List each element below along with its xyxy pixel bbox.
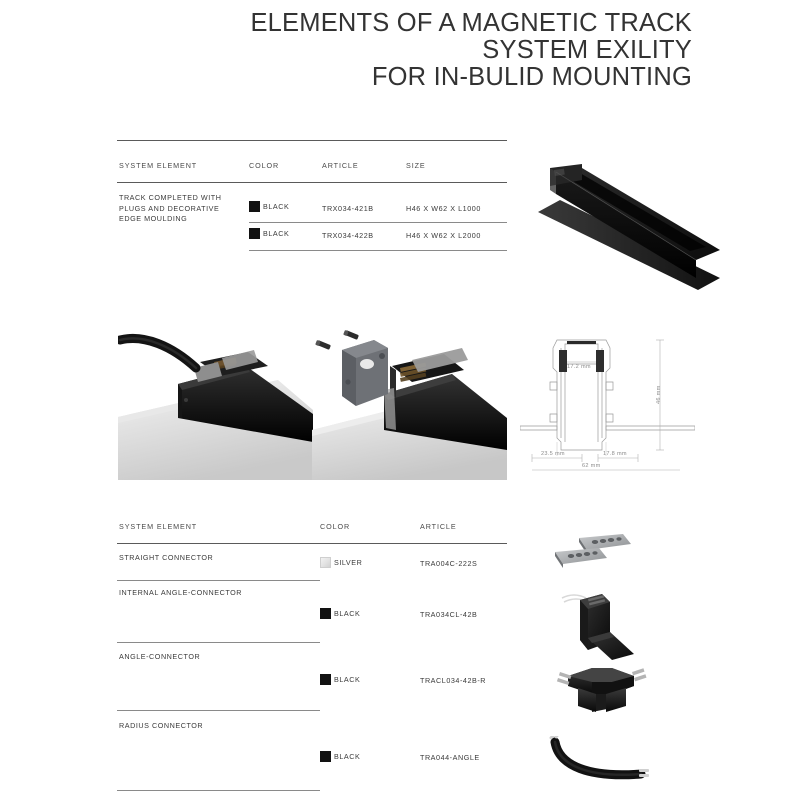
column-header-size: SIZE xyxy=(406,161,426,170)
color-swatch-black xyxy=(320,674,331,685)
column-header-system-element: SYSTEM ELEMENT xyxy=(119,161,197,170)
dimension-left-width: 23.5 mm xyxy=(541,451,565,457)
dimension-right-width: 17.8 mm xyxy=(603,451,627,457)
column-header-article: ARTICLE xyxy=(322,161,359,170)
table-row-color-cell: BLACK xyxy=(320,751,360,762)
track-profile-photo xyxy=(520,150,720,300)
color-swatch-black xyxy=(249,201,260,212)
header-bottom-rule xyxy=(117,182,507,183)
connector-element-label: RADIUS CONNECTOR xyxy=(119,721,203,732)
table-row-rule xyxy=(117,710,320,711)
table-row-rule xyxy=(117,642,320,643)
track-with-cable-photo xyxy=(118,322,313,480)
connector-element-label: STRAIGHT CONNECTOR xyxy=(119,553,213,564)
size-value: H46 X W62 X L2000 xyxy=(406,231,481,242)
article-code: TRX034-421B xyxy=(322,204,374,215)
track-element-label-line-1: TRACK COMPLETED WITH xyxy=(119,193,221,202)
article-code: TRX034-422B xyxy=(322,231,374,242)
column-header-article: ARTICLE xyxy=(420,522,457,531)
cross-section-drawing: 17.2 mm 46 mm 23.5 mm 17.8 mm 62 mm xyxy=(520,330,695,480)
dimension-height: 46 mm xyxy=(656,385,662,404)
radius-connector-photo xyxy=(545,736,655,784)
page-title-line-3: FOR IN-BULID MOUNTING xyxy=(0,64,692,91)
color-label: BLACK xyxy=(334,675,360,684)
column-header-system-element: SYSTEM ELEMENT xyxy=(119,522,197,531)
header-bottom-rule xyxy=(117,543,507,544)
table-top-rule xyxy=(117,140,507,141)
color-swatch-silver xyxy=(320,557,331,568)
internal-angle-connector-photo xyxy=(548,588,653,660)
column-header-color: COLOR xyxy=(249,161,279,170)
table-row-rule xyxy=(117,580,320,581)
table-bottom-rule xyxy=(117,790,320,791)
table-row-rule xyxy=(249,222,507,223)
color-swatch-black xyxy=(320,751,331,762)
connector-element-label: ANGLE-CONNECTOR xyxy=(119,652,200,663)
page-title-line-1: ELEMENTS OF A MAGNETIC TRACK xyxy=(0,10,692,37)
color-label: SILVER xyxy=(334,558,362,567)
track-endcap-exploded-photo xyxy=(312,322,507,480)
page-title-line-2: SYSTEM EXILITY xyxy=(0,37,692,64)
article-code: TRA034CL-42B xyxy=(420,610,477,621)
table-row-color-cell: BLACK xyxy=(249,228,289,239)
article-code: TRA004C-222S xyxy=(420,559,477,570)
column-header-color: COLOR xyxy=(320,522,350,531)
size-value: H46 X W62 X L1000 xyxy=(406,204,481,215)
table-row-color-cell: BLACK xyxy=(320,608,360,619)
color-label: BLACK xyxy=(263,229,289,238)
page-title: ELEMENTS OF A MAGNETIC TRACK SYSTEM EXIL… xyxy=(0,10,692,91)
color-swatch-black xyxy=(249,228,260,239)
dimension-inner-width: 17.2 mm xyxy=(567,364,591,370)
straight-connector-photo xyxy=(545,532,655,587)
catalog-page: ELEMENTS OF A MAGNETIC TRACK SYSTEM EXIL… xyxy=(0,0,800,800)
color-label: BLACK xyxy=(334,609,360,618)
angle-connector-photo xyxy=(548,660,653,718)
table-row-color-cell: BLACK xyxy=(249,201,289,212)
dimension-total-width: 62 mm xyxy=(582,463,601,469)
track-element-label: TRACK COMPLETED WITH PLUGS AND DECORATIV… xyxy=(119,193,244,225)
track-element-label-line-3: EDGE MOULDING xyxy=(119,214,187,223)
table-row-color-cell: BLACK xyxy=(320,674,360,685)
track-element-label-line-2: PLUGS AND DECORATIVE xyxy=(119,204,219,213)
color-label: BLACK xyxy=(263,202,289,211)
color-swatch-black xyxy=(320,608,331,619)
article-code: TRACL034-42B-R xyxy=(420,676,486,687)
table-row-color-cell: SILVER xyxy=(320,557,362,568)
table-bottom-rule xyxy=(249,250,507,251)
connector-element-label: INTERNAL ANGLE-CONNECTOR xyxy=(119,588,242,599)
color-label: BLACK xyxy=(334,752,360,761)
article-code: TRA044-ANGLE xyxy=(420,753,480,764)
